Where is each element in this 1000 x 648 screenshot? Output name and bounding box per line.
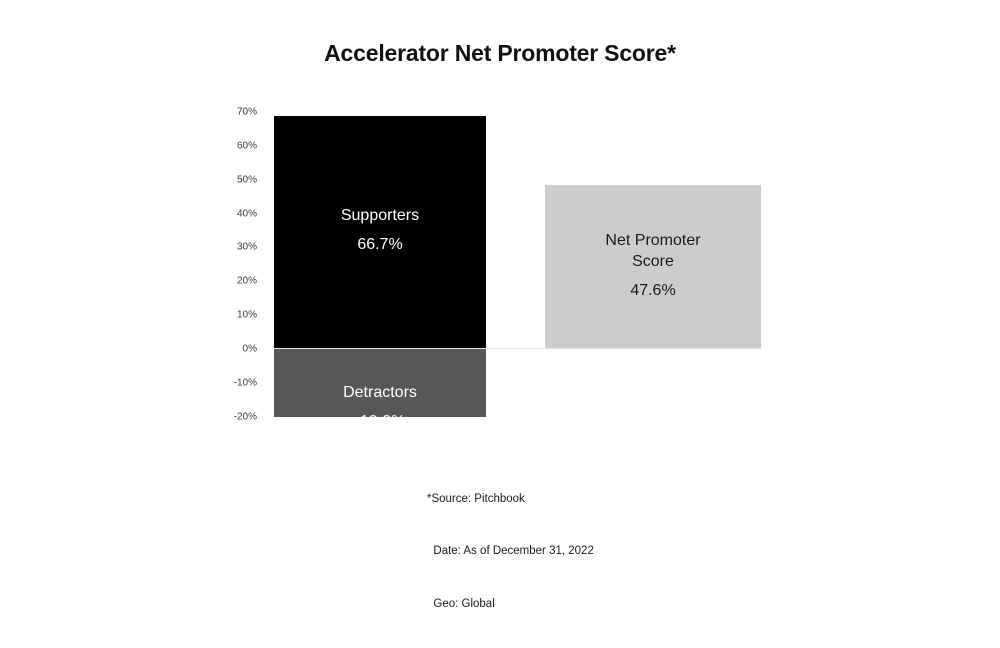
bar-net-promoter-score[interactable]: Net Promoter Score 47.6% bbox=[545, 185, 761, 348]
y-axis: 70% 60% 50% 40% 30% 20% 10% 0% -10% -20% bbox=[195, 0, 257, 560]
y-axis-tick: 0% bbox=[211, 344, 257, 355]
bar-supporters[interactable]: Supporters 66.7% bbox=[274, 116, 486, 348]
bar-label-nps-text: Net Promoter Score bbox=[605, 232, 700, 270]
bar-value-supporters: 66.7% bbox=[274, 234, 486, 255]
y-axis-tick: 30% bbox=[211, 242, 257, 253]
y-axis-tick: 50% bbox=[211, 175, 257, 186]
bar-label-net-promoter-score: Net Promoter Score 47.6% bbox=[545, 209, 761, 323]
footnote-geo: Geo: Global bbox=[427, 596, 594, 613]
bar-value-detractors: -19.0% bbox=[274, 411, 486, 432]
bar-value-nps: 47.6% bbox=[545, 280, 761, 301]
y-axis-tick: 20% bbox=[211, 276, 257, 287]
y-axis-tick: 70% bbox=[211, 107, 257, 118]
y-axis-tick: 40% bbox=[211, 209, 257, 220]
footnote: *Source: Pitchbook Date: As of December … bbox=[427, 456, 594, 648]
footnote-date: Date: As of December 31, 2022 bbox=[427, 543, 594, 560]
bar-detractors[interactable]: Detractors -19.0% bbox=[274, 349, 486, 417]
bar-label-supporters-text: Supporters bbox=[341, 207, 419, 224]
bar-label-supporters: Supporters 66.7% bbox=[274, 184, 486, 276]
bar-label-detractors-text: Detractors bbox=[343, 384, 417, 401]
y-axis-tick: -10% bbox=[211, 378, 257, 389]
y-axis-tick: 60% bbox=[211, 141, 257, 152]
chart-container: Accelerator Net Promoter Score* 70% 60% … bbox=[0, 0, 1000, 560]
y-axis-tick: 10% bbox=[211, 310, 257, 321]
footnote-source: *Source: Pitchbook bbox=[427, 491, 594, 508]
bar-label-detractors: Detractors -19.0% bbox=[274, 361, 486, 453]
y-axis-tick: -20% bbox=[211, 412, 257, 423]
